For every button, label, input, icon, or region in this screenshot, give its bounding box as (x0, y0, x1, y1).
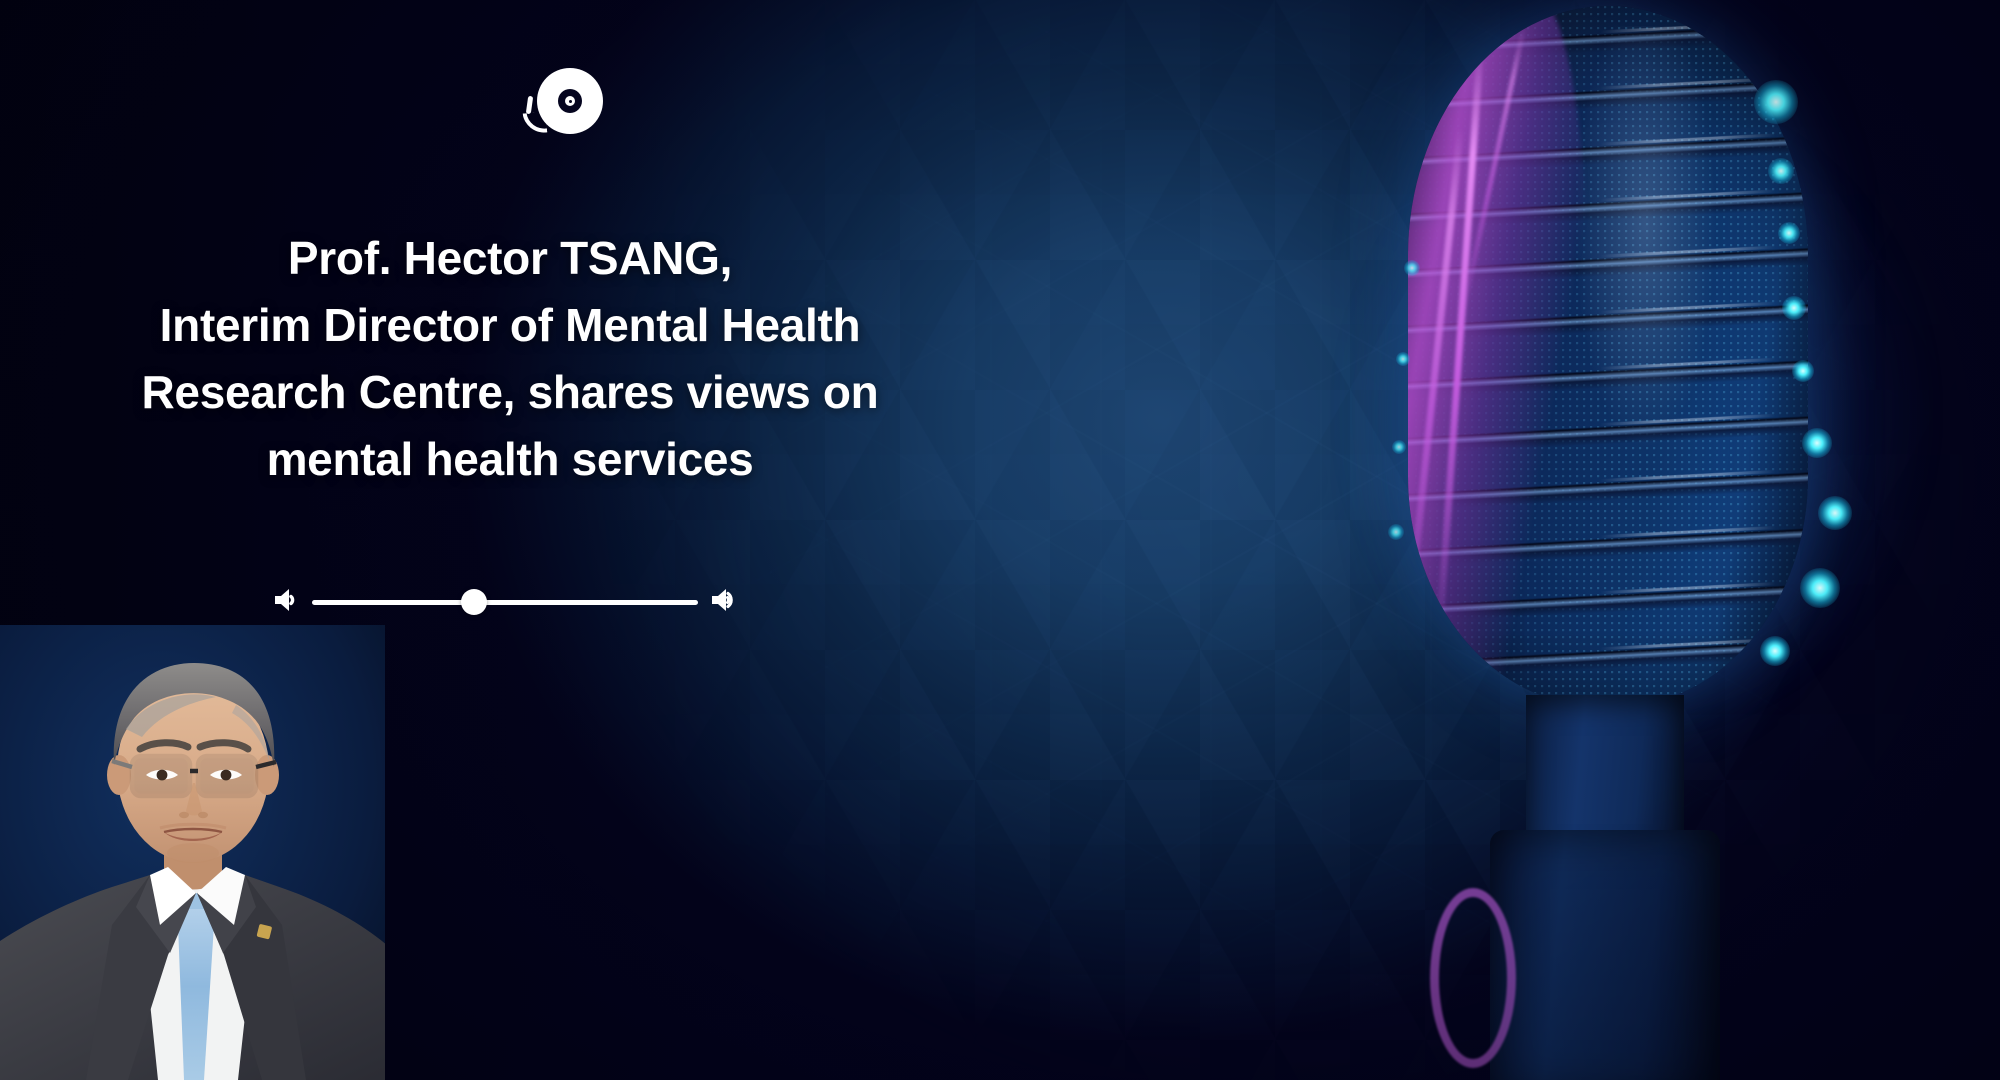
vinyl-record-icon (525, 68, 605, 148)
volume-low-icon[interactable] (272, 587, 300, 618)
vinyl-spindle-hole (569, 100, 572, 103)
headline-line-1: Prof. Hector TSANG, (60, 225, 960, 292)
volume-thumb[interactable] (461, 589, 487, 615)
audio-volume-slider[interactable] (272, 583, 742, 621)
volume-high-icon[interactable] (710, 586, 742, 619)
promo-card: Prof. Hector TSANG, Interim Director of … (0, 0, 2000, 1080)
headline-line-2: Interim Director of Mental Health (60, 292, 960, 359)
headline: Prof. Hector TSANG, Interim Director of … (60, 225, 960, 494)
volume-track-area[interactable] (312, 583, 698, 621)
headline-line-4: mental health services (60, 426, 960, 493)
headline-line-3: Research Centre, shares views on (60, 359, 960, 426)
volume-track[interactable] (312, 600, 698, 605)
speaker-portrait (0, 625, 385, 1080)
